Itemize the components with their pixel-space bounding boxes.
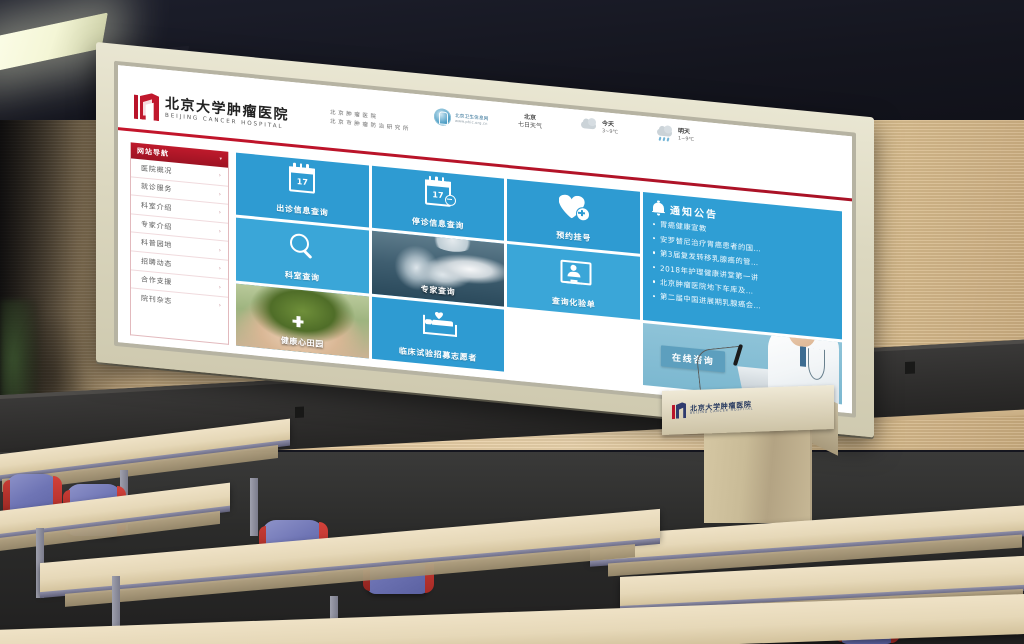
calendar-day: 17	[291, 176, 313, 189]
notice-list: 胃癌健康宣教 安罗替尼治疗胃癌患者的国… 第3届复发转移乳腺癌的管… 2018年…	[652, 219, 833, 319]
wall-outlet	[295, 407, 304, 418]
site-navigation-sidebar[interactable]: 网站导航 ▾ 医院概况 › 就诊服务 › 科室介绍	[130, 142, 229, 345]
sidebar-item-label: 专家介绍	[141, 219, 172, 232]
tile-clinical-trial-volunteers[interactable]: 临床试验招募志愿者	[372, 296, 505, 371]
lectern-podium[interactable]: 北京大学肿瘤医院 BEIJING CANCER HOSPITAL	[662, 388, 834, 523]
forecast-temp: 1~9℃	[678, 135, 694, 143]
notice-title: 通知公告	[670, 202, 718, 222]
desk-leg	[250, 478, 258, 536]
chevron-right-icon: ›	[219, 172, 221, 179]
hospital-logo-mark	[134, 92, 159, 121]
forecast-temp: 3~9℃	[602, 128, 618, 136]
forecast-today: 今天 3~9℃	[580, 118, 618, 137]
podium-logo: 北京大学肿瘤医院 BEIJING CANCER HOSPITAL	[672, 397, 753, 419]
weather-range-label: 七日天气	[518, 121, 542, 131]
lecture-hall-scene: 北京卫生信息网 www.phic.org.cn 北京 七日天气 今天	[0, 0, 1024, 644]
tile-expert-search[interactable]: 专家查询	[372, 231, 505, 306]
notice-announcement-panel[interactable]: 通知公告 胃癌健康宣教 安罗替尼治疗胃癌患者的国… 第3届复发转移乳腺癌的管… …	[643, 192, 842, 339]
tile-clinic-cancellation[interactable]: 17 停诊信息查询	[372, 166, 505, 241]
podium-body	[704, 428, 810, 523]
bed-heart-icon	[423, 312, 453, 337]
tile-lab-report-query[interactable]: 查询化验单	[507, 244, 640, 319]
sidebar-item-label: 招聘动态	[141, 256, 172, 269]
sidebar-item-label: 院刊杂志	[141, 293, 172, 306]
rain-icon	[656, 125, 675, 142]
medical-cross-icon	[293, 316, 304, 328]
chevron-right-icon: ›	[219, 209, 221, 216]
sidebar-item-label: 医院概况	[141, 163, 172, 176]
sidebar-item-label: 科室介绍	[141, 200, 172, 213]
monitor-user-icon	[560, 259, 587, 285]
tile-label: 查询化验单	[507, 291, 640, 315]
heart-plus-icon	[559, 192, 589, 221]
chevron-right-icon: ›	[219, 247, 221, 254]
tile-health-garden[interactable]: 健康心田园	[236, 283, 369, 358]
tile-clinic-schedule[interactable]: 17 出诊信息查询	[236, 153, 369, 228]
search-icon	[290, 232, 314, 258]
calendar-minus-icon: 17	[425, 180, 451, 208]
hospital-subnames: 北京肿瘤医院 北京市肿瘤防治研究所	[330, 110, 411, 133]
chevron-down-icon[interactable]: ▾	[219, 156, 222, 162]
tile-appointment-registration[interactable]: 预约挂号	[507, 179, 640, 254]
sidebar-item-label: 合作支援	[141, 275, 172, 288]
sidebar-item-label: 就诊服务	[141, 182, 172, 195]
city-weather-label: 北京 七日天气	[518, 113, 542, 132]
wall-outlet	[905, 361, 915, 374]
forecast-tomorrow: 明天 1~9℃	[656, 125, 694, 144]
tile-label: 临床试验招募志愿者	[372, 343, 505, 367]
chevron-right-icon: ›	[219, 284, 221, 291]
bell-icon	[652, 200, 665, 215]
hospital-logo-mark	[672, 402, 686, 419]
chevron-right-icon: ›	[219, 265, 221, 272]
gov-badge[interactable]: 北京卫生信息网 www.phic.org.cn	[434, 108, 489, 130]
hospital-logo[interactable]: 北京大学肿瘤医院 BEIJING CANCER HOSPITAL	[134, 92, 289, 134]
calendar-icon: 17	[289, 166, 315, 194]
chevron-right-icon: ›	[219, 191, 221, 198]
chevron-right-icon: ›	[219, 228, 221, 235]
sidebar-item-label: 科普园地	[141, 238, 172, 251]
podium-top-panel: 北京大学肿瘤医院 BEIJING CANCER HOSPITAL	[662, 385, 834, 435]
tile-department-search[interactable]: 科室查询	[236, 218, 369, 293]
sidebar-title: 网站导航	[137, 146, 169, 159]
chevron-right-icon: ›	[219, 302, 221, 309]
cloud-icon	[580, 118, 599, 135]
gov-seal-icon	[434, 108, 451, 127]
